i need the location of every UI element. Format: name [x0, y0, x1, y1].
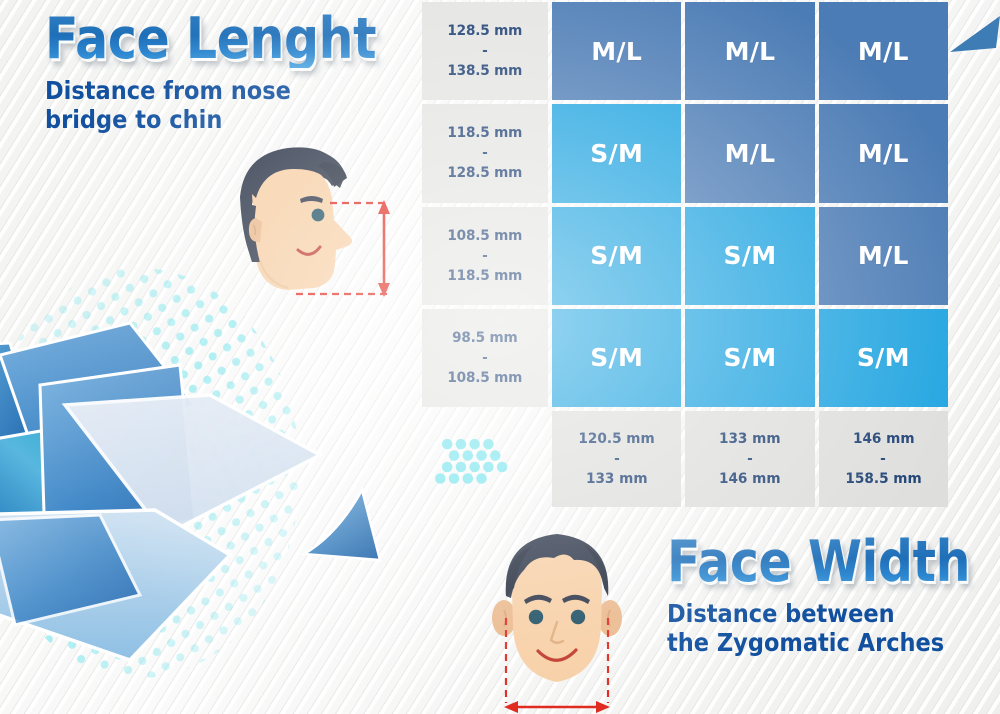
size-cell-r2-c1: S/M: [685, 207, 814, 305]
col-header-0-line2: 133 mm: [586, 469, 648, 489]
col-header-0: 120.5 mm-133 mm: [552, 411, 681, 507]
row-header-0-dash: -: [482, 41, 487, 61]
abstract-blue-polygons: [0, 265, 380, 685]
blue-triangle-accent: [300, 482, 392, 574]
row-header-3-dash: -: [482, 348, 487, 368]
row-header-2-line1: 108.5 mm: [448, 226, 523, 246]
col-header-2-line2: 158.5 mm: [845, 469, 921, 489]
face-size-chart-table: 128.5 mm-138.5 mmM/LM/LM/L118.5 mm-128.5…: [422, 2, 948, 507]
size-cell-r1-c2: M/L: [819, 104, 948, 202]
row-header-3: 98.5 mm-108.5 mm: [422, 309, 548, 407]
table-corner-decoration: [422, 411, 548, 507]
face-width-heading-block: Face Width Distance between the Zygomati…: [667, 535, 1000, 658]
col-header-1: 133 mm-146 mm: [685, 411, 814, 507]
size-cell-r3-c2: S/M: [819, 309, 948, 407]
size-cell-r1-c1: M/L: [685, 104, 814, 202]
size-cell-r0-c0: M/L: [552, 2, 681, 100]
row-header-0-line2: 138.5 mm: [448, 61, 523, 81]
size-cell-r0-c1: M/L: [685, 2, 814, 100]
face-length-heading-block: Face Lenght Distance from nose bridge to…: [45, 12, 430, 135]
col-header-0-line1: 120.5 mm: [579, 429, 655, 449]
row-header-2-dash: -: [482, 246, 487, 266]
size-cell-r1-c0: S/M: [552, 104, 681, 202]
size-cell-r0-c2: M/L: [819, 2, 948, 100]
row-header-1-line2: 128.5 mm: [448, 163, 523, 183]
row-header-1-line1: 118.5 mm: [448, 123, 523, 143]
row-header-0: 128.5 mm-138.5 mm: [422, 2, 548, 100]
row-header-2: 108.5 mm-118.5 mm: [422, 207, 548, 305]
row-header-1-dash: -: [482, 143, 487, 163]
chevron-dots-icon: [422, 411, 548, 507]
face-width-subtitle-line1: Distance between: [667, 599, 984, 629]
page-title-face-width: Face Width: [667, 535, 970, 591]
face-width-subtitle-line2: the Zygomatic Arches: [667, 628, 984, 658]
row-header-1: 118.5 mm-128.5 mm: [422, 104, 548, 202]
row-header-0-line1: 128.5 mm: [448, 21, 523, 41]
row-header-3-line1: 98.5 mm: [452, 328, 517, 348]
face-length-subtitle: Distance from nose bridge to chin: [45, 76, 392, 135]
infographic-canvas: Face Lenght Distance from nose bridge to…: [0, 0, 1000, 714]
size-cell-r3-c1: S/M: [685, 309, 814, 407]
col-header-1-dash: -: [747, 449, 753, 469]
col-header-2-line1: 146 mm: [853, 429, 915, 449]
row-header-3-line2: 108.5 mm: [448, 368, 523, 388]
row-header-2-line2: 118.5 mm: [448, 266, 523, 286]
face-width-subtitle: Distance between the Zygomatic Arches: [667, 599, 984, 658]
col-header-1-line1: 133 mm: [719, 429, 781, 449]
page-title-face-length: Face Lenght: [45, 12, 376, 68]
face-length-subtitle-line2: bridge to chin: [45, 105, 392, 135]
face-front-illustration: [462, 518, 652, 714]
col-header-2: 146 mm-158.5 mm: [819, 411, 948, 507]
face-length-subtitle-line1: Distance from nose: [45, 76, 392, 106]
face-side-profile-illustration: [222, 142, 402, 317]
col-header-0-dash: -: [614, 449, 620, 469]
size-cell-r2-c2: M/L: [819, 207, 948, 305]
size-cell-r3-c0: S/M: [552, 309, 681, 407]
col-header-2-dash: -: [880, 449, 886, 469]
size-cell-r2-c0: S/M: [552, 207, 681, 305]
col-header-1-line2: 146 mm: [719, 469, 781, 489]
